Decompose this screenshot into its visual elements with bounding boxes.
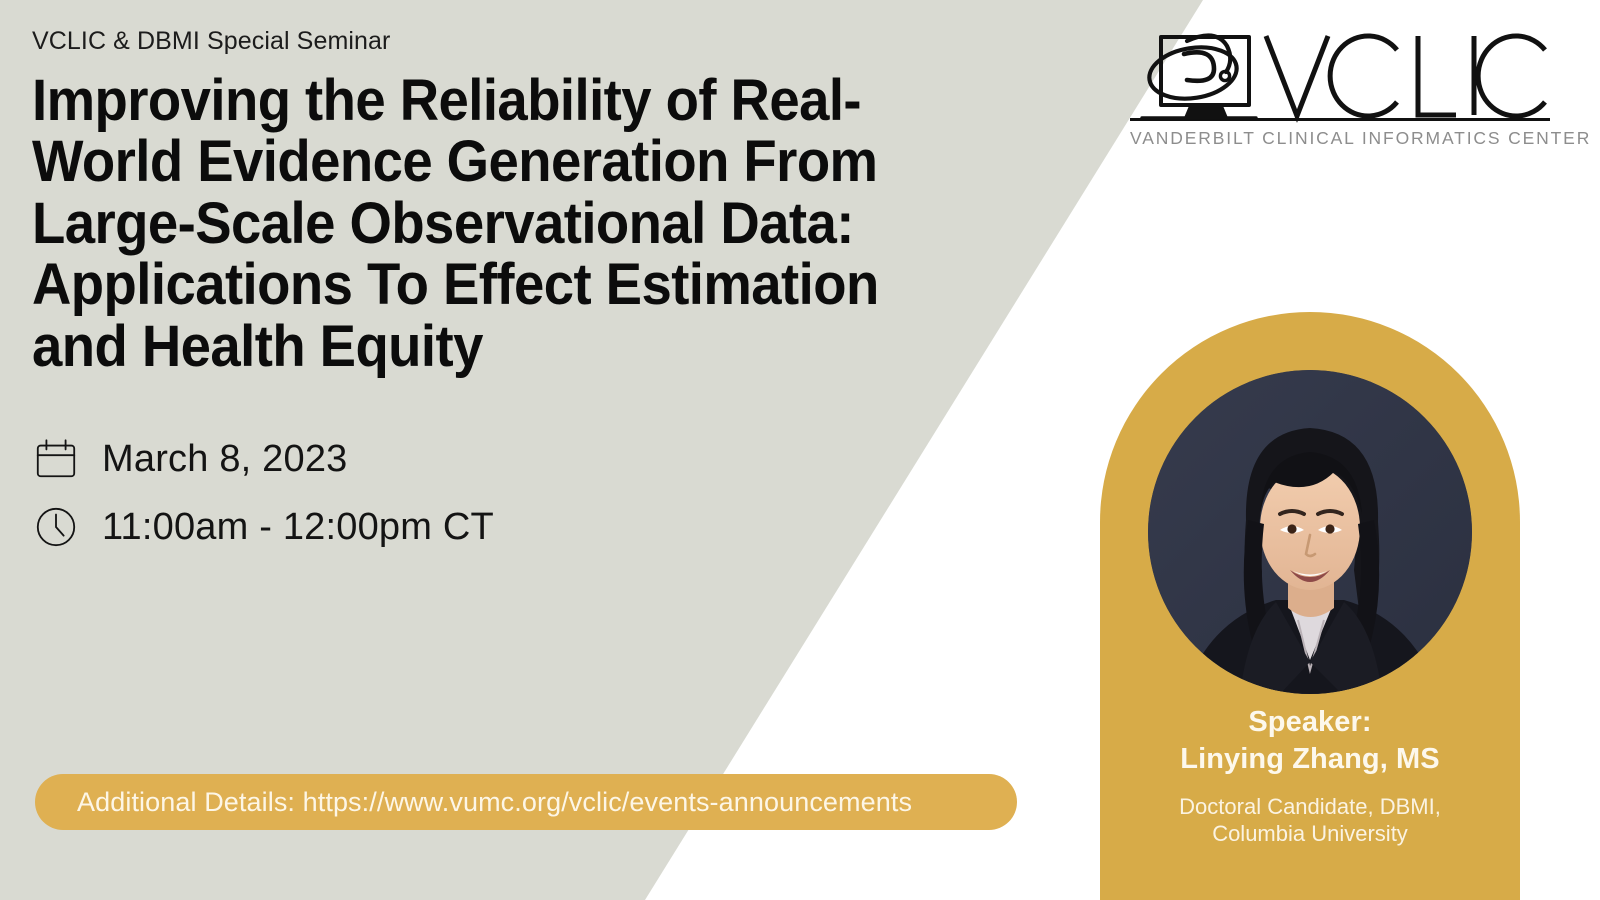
speaker-card: Speaker: Linying Zhang, MS Doctoral Cand… bbox=[1100, 312, 1520, 900]
seminar-series-label: VCLIC & DBMI Special Seminar bbox=[32, 26, 1042, 56]
speaker-info-block: Speaker: Linying Zhang, MS Doctoral Cand… bbox=[1100, 704, 1520, 847]
vclic-logo-main bbox=[1130, 20, 1550, 132]
speaker-label: Speaker: bbox=[1118, 704, 1502, 741]
event-meta-list: March 8, 2023 11:00am - 12:00pm CT bbox=[32, 428, 494, 564]
event-time-row: 11:00am - 12:00pm CT bbox=[32, 496, 494, 558]
clock-icon bbox=[32, 503, 80, 551]
left-content-column: VCLIC & DBMI Special Seminar Improving t… bbox=[32, 26, 1042, 377]
vclic-logo: VANDERBILT CLINICAL INFORMATICS CENTER bbox=[1130, 20, 1550, 149]
seminar-poster: VCLIC & DBMI Special Seminar Improving t… bbox=[0, 0, 1600, 900]
additional-details-link[interactable]: Additional Details: https://www.vumc.org… bbox=[35, 787, 912, 818]
additional-details-pill[interactable]: Additional Details: https://www.vumc.org… bbox=[35, 774, 1017, 830]
event-date-text: March 8, 2023 bbox=[102, 438, 348, 481]
speaker-name: Linying Zhang, MS bbox=[1118, 741, 1502, 778]
monitor-stethoscope-icon bbox=[1130, 20, 1260, 132]
speaker-headshot-photo bbox=[1148, 370, 1472, 694]
event-date-row: March 8, 2023 bbox=[32, 428, 494, 490]
speaker-affiliation-line1: Doctoral Candidate, DBMI, bbox=[1118, 794, 1502, 820]
vclic-logo-tagline: VANDERBILT CLINICAL INFORMATICS CENTER bbox=[1130, 128, 1550, 149]
speaker-affiliation-line2: Columbia University bbox=[1118, 821, 1502, 847]
vclic-wordmark bbox=[1260, 20, 1550, 132]
calendar-icon bbox=[32, 435, 80, 483]
event-time-text: 11:00am - 12:00pm CT bbox=[102, 506, 494, 549]
page-title: Improving the Reliability of Real-World … bbox=[32, 70, 981, 377]
